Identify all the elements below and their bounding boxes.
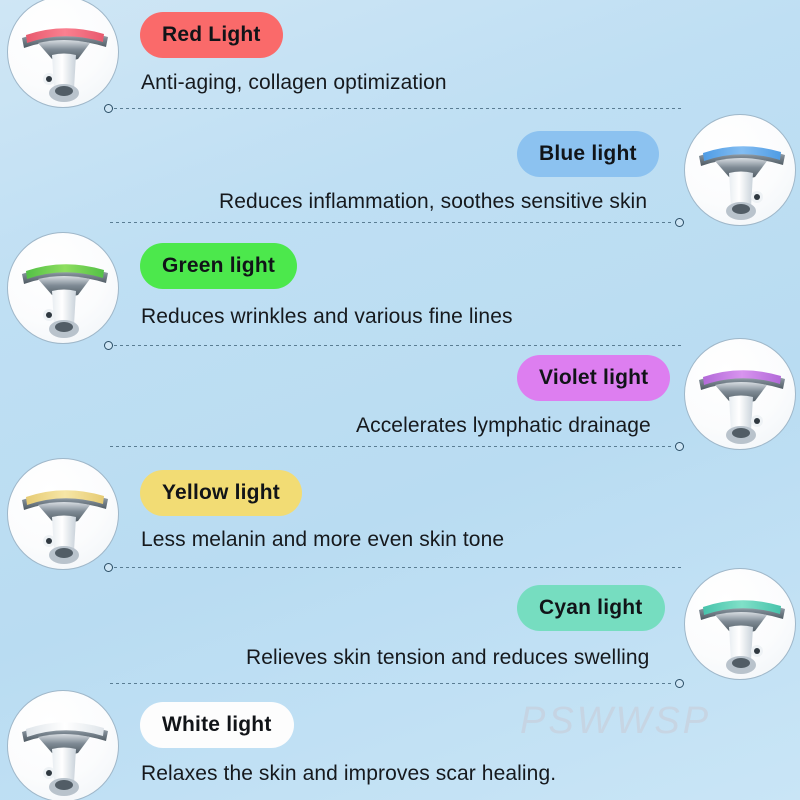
connector-knob-icon — [675, 679, 684, 688]
description-yellow-light: Less melanin and more even skin tone — [141, 528, 504, 552]
description-cyan-light: Relieves skin tension and reduces swelli… — [246, 646, 649, 670]
connector-knob-icon — [675, 218, 684, 227]
led-light-therapy-infographic: Red Light Anti-aging, collagen optimizat… — [0, 0, 800, 800]
description-blue-light: Reduces inflammation, soothes sensitive … — [219, 190, 647, 214]
pill-label: Blue light — [539, 142, 637, 166]
device-image-yellow — [7, 458, 119, 570]
connector-knob-icon — [104, 104, 113, 113]
connector-dotted-line — [114, 108, 682, 109]
description-red-light: Anti-aging, collagen optimization — [141, 71, 447, 95]
pill-blue-light[interactable]: Blue light — [517, 131, 659, 177]
device-image-blue — [684, 114, 796, 226]
pill-green-light[interactable]: Green light — [140, 243, 297, 289]
description-green-light: Reduces wrinkles and various fine lines — [141, 305, 513, 329]
connector-red — [104, 103, 682, 114]
connector-dotted-line — [110, 683, 674, 684]
device-image-red — [7, 0, 119, 108]
connector-yellow — [104, 562, 682, 573]
pill-label: Violet light — [539, 366, 648, 390]
pill-white-light[interactable]: White light — [140, 702, 294, 748]
pill-label: Yellow light — [162, 481, 280, 505]
connector-dotted-line — [114, 567, 682, 568]
watermark-text: PSWWSP — [520, 700, 711, 743]
connector-dotted-line — [110, 222, 674, 223]
pill-violet-light[interactable]: Violet light — [517, 355, 670, 401]
connector-green — [104, 340, 682, 351]
connector-dotted-line — [114, 345, 682, 346]
device-image-white — [7, 690, 119, 800]
connector-violet — [110, 441, 684, 452]
device-image-cyan — [684, 568, 796, 680]
connector-knob-icon — [104, 341, 113, 350]
connector-blue — [110, 217, 684, 228]
pill-red-light[interactable]: Red Light — [140, 12, 283, 58]
pill-label: Red Light — [162, 23, 261, 47]
connector-dotted-line — [110, 446, 674, 447]
connector-cyan — [110, 678, 684, 689]
pill-cyan-light[interactable]: Cyan light — [517, 585, 665, 631]
connector-knob-icon — [675, 442, 684, 451]
connector-knob-icon — [104, 563, 113, 572]
description-white-light: Relaxes the skin and improves scar heali… — [141, 762, 556, 786]
pill-yellow-light[interactable]: Yellow light — [140, 470, 302, 516]
device-image-green — [7, 232, 119, 344]
pill-label: White light — [162, 713, 272, 737]
pill-label: Green light — [162, 254, 275, 278]
pill-label: Cyan light — [539, 596, 643, 620]
description-violet-light: Accelerates lymphatic drainage — [356, 414, 651, 438]
device-image-violet — [684, 338, 796, 450]
